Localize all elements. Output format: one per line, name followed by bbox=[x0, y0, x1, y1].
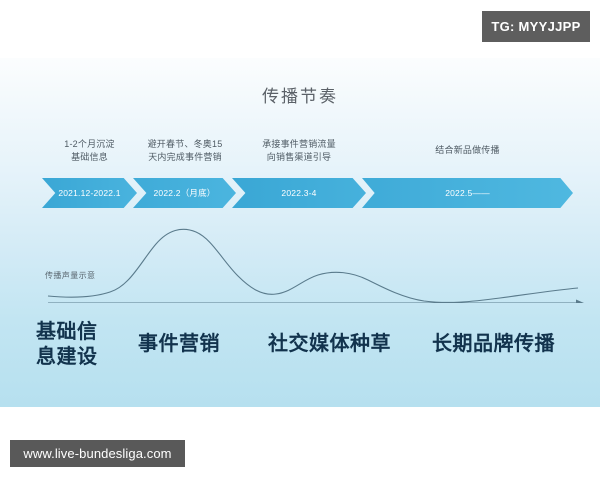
phase-heading-4-line1: 长期品牌传播 bbox=[432, 332, 582, 357]
phase-heading-2-line1: 事件营销 bbox=[138, 332, 268, 357]
phase-caption-2: 避开春节、冬奥15 天内完成事件营销 bbox=[124, 138, 246, 164]
phase-heading-3: 社交媒体种草 bbox=[268, 332, 408, 357]
buzz-volume-chart: 传播声量示意 bbox=[0, 218, 600, 303]
slide-title: 传播节奏 bbox=[0, 82, 600, 107]
site-watermark-text: www.live-bundesliga.com bbox=[23, 446, 171, 461]
phase-caption-3-line1: 承接事件营销流量 bbox=[238, 138, 360, 151]
phase-caption-3-line2: 向销售渠道引导 bbox=[238, 151, 360, 164]
phase-caption-4-line1: 结合新品做传播 bbox=[400, 144, 535, 157]
timeline-arrow-phase-4[interactable]: 2022.5—— bbox=[362, 178, 573, 208]
timeline-arrow-band: 2021.12-2022.1 2022.2（月底） 2022.3-4 2022.… bbox=[0, 178, 600, 208]
timeline-arrow-phase-4-period: 2022.5—— bbox=[445, 188, 490, 198]
phase-caption-2-line1: 避开春节、冬奥15 bbox=[124, 138, 246, 151]
timeline-arrow-phase-2[interactable]: 2022.2（月底） bbox=[133, 178, 236, 208]
phase-caption-4: 结合新品做传播 bbox=[400, 144, 535, 157]
site-watermark: www.live-bundesliga.com bbox=[10, 440, 185, 467]
buzz-volume-axis-arrowhead bbox=[576, 300, 584, 304]
timeline-arrow-phase-3-period: 2022.3-4 bbox=[281, 188, 316, 198]
phase-caption-3: 承接事件营销流量 向销售渠道引导 bbox=[238, 138, 360, 164]
phase-heading-2: 事件营销 bbox=[138, 332, 268, 357]
phase-heading-1-line2: 息建设 bbox=[36, 345, 146, 370]
phase-heading-3-line1: 社交媒体种草 bbox=[268, 332, 408, 357]
buzz-volume-label: 传播声量示意 bbox=[45, 270, 95, 281]
phase-headings: 基础信 息建设 事件营销 社交媒体种草 长期品牌传播 bbox=[0, 320, 600, 390]
slide-card: 传播节奏 1-2个月沉淀 基础信息 避开春节、冬奥15 天内完成事件营销 承接事… bbox=[0, 58, 600, 407]
timeline-arrow-phase-1-period: 2021.12-2022.1 bbox=[58, 188, 120, 198]
phase-heading-4: 长期品牌传播 bbox=[432, 332, 582, 357]
telegram-watermark-text: TG: MYYJJPP bbox=[491, 19, 580, 34]
phase-heading-1: 基础信 息建设 bbox=[36, 320, 146, 370]
telegram-watermark-badge: TG: MYYJJPP bbox=[482, 11, 590, 42]
phase-caption-2-line2: 天内完成事件营销 bbox=[124, 151, 246, 164]
buzz-volume-curve-path bbox=[48, 229, 578, 302]
phase-heading-1-line1: 基础信 bbox=[36, 320, 146, 345]
buzz-volume-curve-svg bbox=[0, 218, 600, 303]
timeline-arrow-phase-3[interactable]: 2022.3-4 bbox=[232, 178, 366, 208]
timeline-arrow-phase-2-period: 2022.2（月底） bbox=[154, 187, 216, 199]
timeline-arrow-phase-1[interactable]: 2021.12-2022.1 bbox=[42, 178, 137, 208]
